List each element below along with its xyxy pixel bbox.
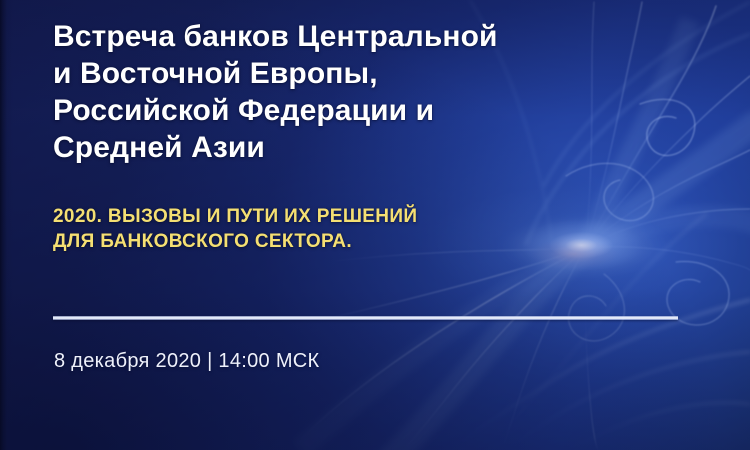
event-banner: Встреча банков Центральной и Восточной Е… [0, 0, 750, 450]
banner-content: Встреча банков Центральной и Восточной Е… [53, 0, 713, 450]
event-title: Встреча банков Центральной и Восточной Е… [53, 18, 673, 166]
event-datetime: 8 декабря 2020 | 14:00 МСК [54, 350, 320, 373]
event-subtitle: 2020. Вызовы и пути их решений для банко… [53, 204, 653, 254]
divider-rule [53, 316, 678, 320]
